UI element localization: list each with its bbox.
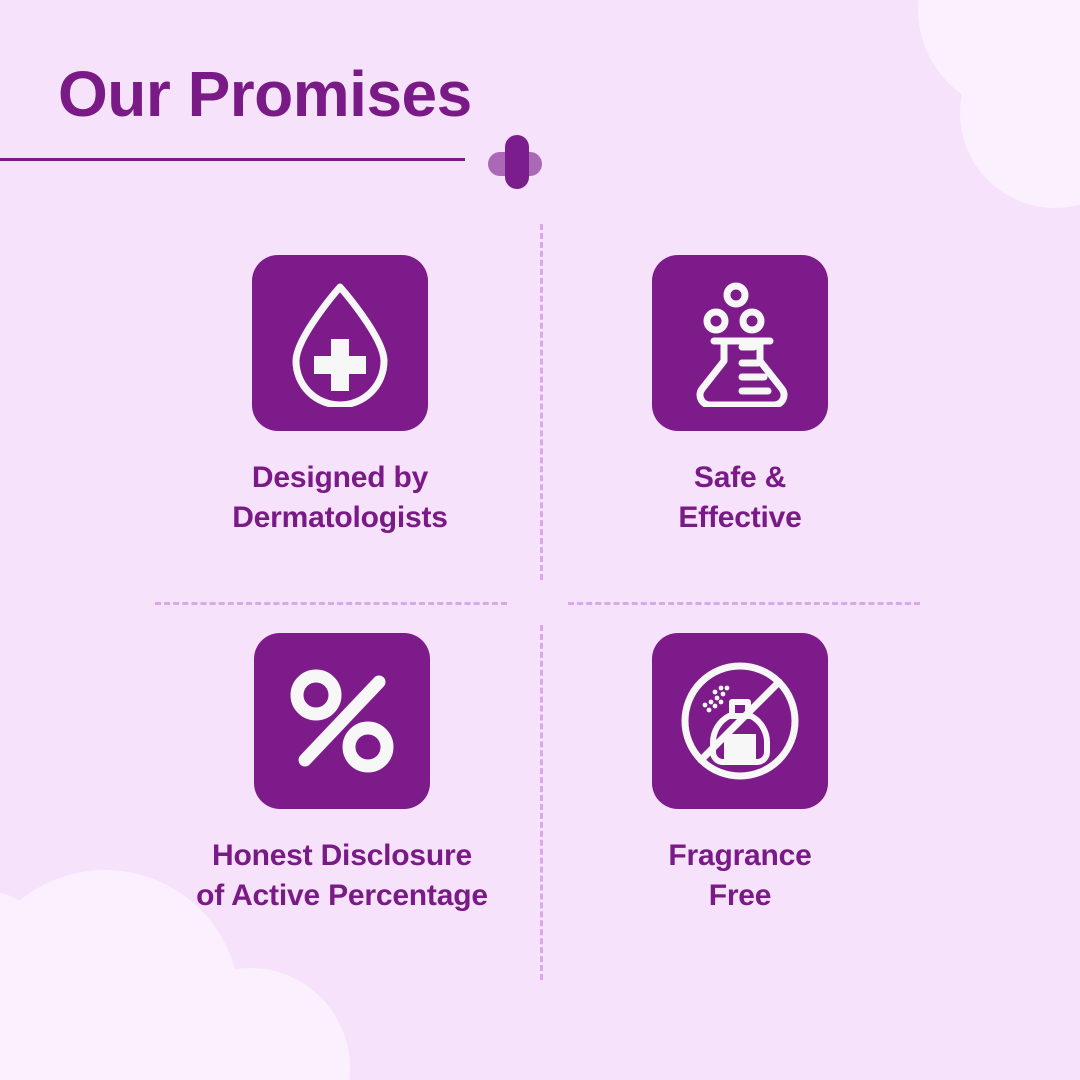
divider-horizontal-right xyxy=(568,602,920,605)
plus-icon-horizontal-bar xyxy=(488,152,542,176)
percent-icon xyxy=(287,666,397,776)
promise-label: Fragrance Free xyxy=(530,836,950,916)
promise-label: Designed by Dermatologists xyxy=(130,458,550,538)
decor-blob-top-right-2 xyxy=(960,18,1080,208)
title-underline-rule xyxy=(0,158,465,161)
promise-icon-tile xyxy=(652,633,828,809)
promise-item-designed-by-dermatologists: Designed by Dermatologists xyxy=(130,255,550,538)
divider-horizontal-left xyxy=(155,602,507,605)
promise-item-honest-disclosure: Honest Disclosure of Active Percentage xyxy=(132,633,552,916)
header: Our Promises xyxy=(0,62,580,126)
promise-icon-tile xyxy=(252,255,428,431)
promise-item-fragrance-free: Fragrance Free xyxy=(530,633,950,916)
plus-icon xyxy=(488,135,542,189)
promise-item-safe-and-effective: Safe & Effective xyxy=(530,255,950,538)
page-title: Our Promises xyxy=(0,62,580,126)
promise-icon-tile xyxy=(254,633,430,809)
decor-blob-bottom-left-2 xyxy=(150,968,350,1080)
flask-icon xyxy=(680,279,800,407)
promise-label: Safe & Effective xyxy=(530,458,950,538)
promise-icon-tile xyxy=(652,255,828,431)
decor-blob-top-right-1 xyxy=(918,0,1080,114)
no-fragrance-icon xyxy=(677,658,803,784)
droplet-plus-icon xyxy=(280,279,400,407)
decor-blob-bottom-left-3 xyxy=(0,890,56,1040)
promises-card: Our Promises Designed by Dermatologists xyxy=(0,0,1080,1080)
promise-label: Honest Disclosure of Active Percentage xyxy=(132,836,552,916)
